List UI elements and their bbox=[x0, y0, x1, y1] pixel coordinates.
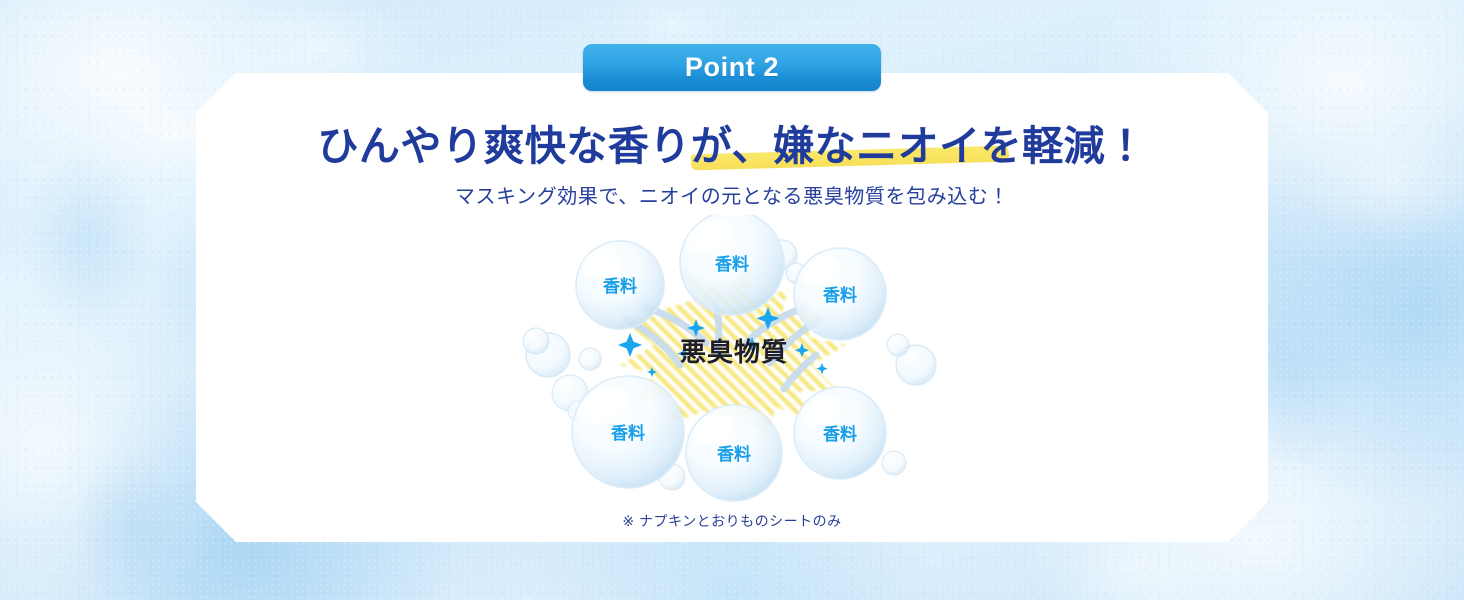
footnote-text: ※ ナプキンとおりものシートのみ bbox=[196, 511, 1268, 531]
page-title-text: ひんやり爽快な香りが、嫌なニオイを軽減！ bbox=[317, 123, 1146, 169]
page-title: ひんやり爽快な香りが、嫌なニオイを軽減！ bbox=[196, 118, 1268, 174]
fragrance-bubble: 香料 bbox=[680, 215, 784, 315]
masking-illustration: 香料 香料 香料 香料 香料 bbox=[520, 215, 950, 505]
fragrance-bubble: 香料 bbox=[794, 387, 886, 479]
fragrance-bubble-label: 香料 bbox=[823, 285, 857, 305]
fragrance-bubble: 香料 bbox=[686, 405, 782, 501]
fragrance-bubble-label: 香料 bbox=[717, 444, 751, 464]
fragrance-bubble-label: 香料 bbox=[823, 424, 857, 444]
fragrance-bubble-label: 香料 bbox=[611, 423, 645, 443]
page-root: Point 2 ひんやり爽快な香りが、嫌なニオイを軽減！ マスキング効果で、ニオ… bbox=[0, 0, 1464, 600]
point-badge: Point 2 bbox=[583, 44, 881, 91]
point-badge-label: Point 2 bbox=[685, 54, 779, 81]
fragrance-bubble-label: 香料 bbox=[715, 254, 749, 274]
page-subtitle: マスキング効果で、ニオイの元となる悪臭物質を包み込む！ bbox=[196, 180, 1268, 209]
fragrance-bubble-label: 香料 bbox=[603, 276, 637, 296]
odour-substance-label: 悪臭物質 bbox=[680, 337, 788, 367]
fragrance-bubble: 香料 bbox=[576, 241, 664, 329]
fragrance-bubble: 香料 bbox=[572, 376, 684, 488]
fragrance-bubble: 香料 bbox=[794, 248, 886, 340]
